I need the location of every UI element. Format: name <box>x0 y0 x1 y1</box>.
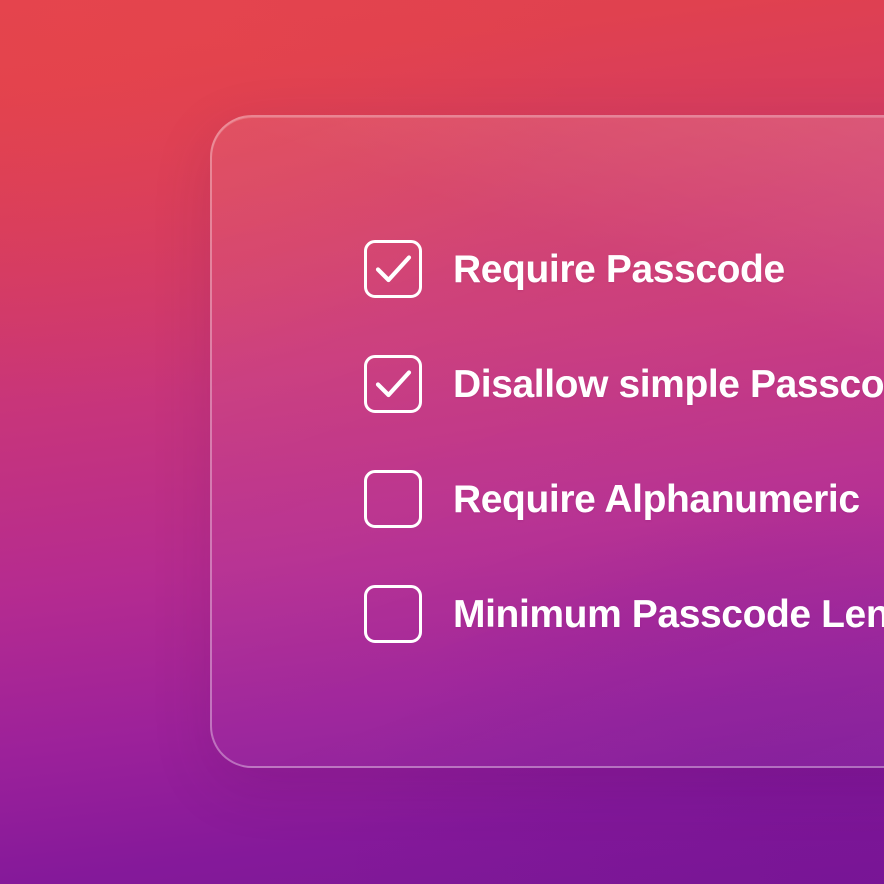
checkbox-checked-icon[interactable] <box>364 240 422 298</box>
checkbox-checked-icon[interactable] <box>364 355 422 413</box>
option-row-require-alphanumeric[interactable]: Require Alphanumeric <box>364 470 884 528</box>
option-label-disallow-simple-passcode: Disallow simple Passcode <box>453 365 884 404</box>
checkbox-unchecked-icon[interactable] <box>364 585 422 643</box>
option-label-require-passcode: Require Passcode <box>453 250 785 289</box>
option-row-disallow-simple-passcode[interactable]: Disallow simple Passcode <box>364 355 884 413</box>
option-label-require-alphanumeric: Require Alphanumeric <box>453 480 860 519</box>
option-row-minimum-passcode-length[interactable]: Minimum Passcode Length <box>364 585 884 643</box>
checkbox-unchecked-icon[interactable] <box>364 470 422 528</box>
option-label-minimum-passcode-length: Minimum Passcode Length <box>453 595 884 634</box>
options-list: Require Passcode Disallow simple Passcod… <box>364 240 884 643</box>
passcode-settings-card: Require Passcode Disallow simple Passcod… <box>210 115 884 768</box>
screen-root: Require Passcode Disallow simple Passcod… <box>0 0 884 884</box>
option-row-require-passcode[interactable]: Require Passcode <box>364 240 884 298</box>
